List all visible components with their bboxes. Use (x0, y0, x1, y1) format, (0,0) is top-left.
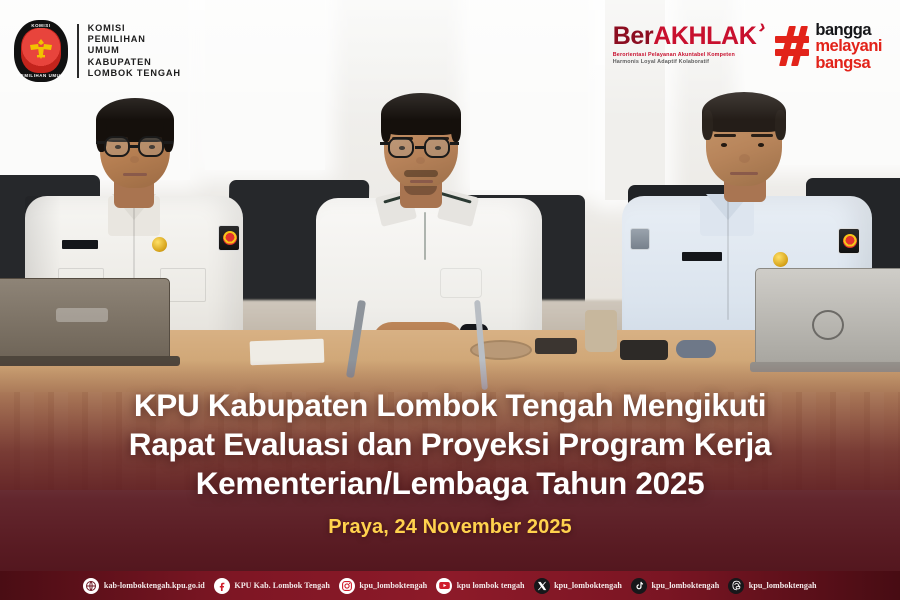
kpu-arm-patch (838, 228, 860, 254)
berakhlak-main: AKHLAK (653, 22, 756, 50)
window-pane (470, 0, 600, 190)
button-placket (727, 200, 729, 320)
youtube-icon (436, 578, 452, 594)
event-location-date: Praya, 24 November 2025 (0, 516, 900, 539)
poster-canvas: KOMISI PEMILIHAN UMUM KOMISI PEMILIHAN U… (0, 0, 900, 600)
bangga-line: bangga (815, 22, 882, 38)
eyebrow (751, 134, 773, 137)
garuda-glyph (28, 37, 54, 61)
institution-line: KOMISI (88, 23, 181, 34)
mouth (410, 180, 433, 183)
social-item-instagram[interactable]: kpu_lomboktengah (339, 578, 427, 594)
berakhlak-prefix: Ber (613, 22, 654, 50)
social-label: kpu_lomboktengah (651, 581, 719, 590)
social-label: KPU Kab. Lombok Tengah (234, 581, 330, 590)
hair-side (451, 112, 461, 142)
kpu-garuda-seal-icon: KOMISI PEMILIHAN UMUM (14, 20, 68, 82)
eye (721, 143, 727, 147)
hp-logo (812, 310, 844, 340)
gold-emblem (152, 237, 167, 252)
header-divider (77, 24, 79, 78)
tagline-line: Harmonis Loyal Adaptif Kolaboratif (613, 59, 757, 66)
hair-side (163, 118, 174, 152)
chest-pocket (440, 268, 482, 298)
institution-line: KABUPATEN (88, 57, 181, 68)
social-item-website[interactable]: kab-lomboktengah.kpu.go.id (83, 578, 204, 594)
berakhlak-wordmark: BerAKHLAK (613, 24, 757, 49)
smartphone (620, 340, 668, 360)
social-label: kpu_lomboktengah (359, 581, 427, 590)
name-tag (62, 240, 98, 249)
eye (758, 143, 764, 147)
hair-side (775, 110, 786, 140)
dell-laptop-base (0, 356, 180, 366)
instagram-icon (339, 578, 355, 594)
nose (416, 157, 425, 164)
smartphone (535, 338, 577, 354)
tagline-line: Berorientasi Pelayanan Akuntabel Kompete… (613, 52, 757, 59)
social-label: kpu_lomboktengah (554, 581, 622, 590)
kpu-branding: KOMISI PEMILIHAN UMUM KOMISI PEMILIHAN U… (14, 20, 181, 82)
partner-logos: BerAKHLAK › Berorientasi Pelayanan Akunt… (613, 22, 882, 71)
moustache (404, 170, 438, 177)
kpu-arm-patch (218, 225, 240, 251)
seal-top-text: KOMISI (14, 23, 68, 28)
poster-title-block: KPU Kabupaten Lombok Tengah Mengikuti Ra… (0, 386, 900, 539)
title-line-2: Rapat Evaluasi dan Proyeksi Program Kerj… (0, 425, 900, 464)
bangga-line: bangsa (815, 55, 882, 71)
gold-emblem (773, 252, 788, 267)
title-line-3: Kementerian/Lembaga Tahun 2025 (0, 464, 900, 503)
social-media-footer: kab-lomboktengah.kpu.go.id KPU Kab. Lomb… (0, 571, 900, 600)
hair (381, 93, 461, 135)
shoulder-patch (630, 228, 650, 250)
name-tag (682, 252, 722, 261)
drinking-cup (585, 310, 617, 352)
tiktok-icon (631, 578, 647, 594)
window-pane (205, 0, 325, 170)
berakhlak-logo: BerAKHLAK › Berorientasi Pelayanan Akunt… (613, 22, 757, 67)
social-label: kpu lombok tengah (457, 581, 525, 590)
social-item-facebook[interactable]: KPU Kab. Lombok Tengah (214, 578, 330, 594)
hp-laptop-base (750, 362, 900, 372)
social-label: kpu_lomboktengah (749, 581, 817, 590)
laptop-brand-logo (56, 308, 108, 322)
institution-line: PEMILIHAN (88, 34, 181, 45)
hair-side (702, 110, 713, 140)
institution-line: LOMBOK TENGAH (88, 68, 181, 79)
bangga-melayani-bangsa-logo: bangga melayani bangsa (776, 22, 882, 71)
institution-name: KOMISI PEMILIHAN UMUM KABUPATEN LOMBOK T… (88, 23, 181, 80)
seal-bottom-text: PEMILIHAN UMUM (14, 73, 68, 78)
mouth (123, 173, 147, 176)
bangga-wordmark: bangga melayani bangsa (815, 22, 882, 71)
bangga-line: melayani (815, 38, 882, 54)
hair-side (381, 112, 391, 142)
social-item-youtube[interactable]: kpu lombok tengah (436, 578, 524, 594)
goatee (404, 186, 437, 195)
paper-documents (250, 339, 325, 366)
computer-mouse (676, 340, 716, 358)
institution-line: UMUM (88, 45, 181, 56)
social-item-x-twitter[interactable]: kpu_lomboktengah (534, 578, 622, 594)
facebook-icon (214, 578, 230, 594)
social-item-tiktok[interactable]: kpu_lomboktengah (631, 578, 719, 594)
title-line-1: KPU Kabupaten Lombok Tengah Mengikuti (0, 386, 900, 425)
hair (702, 92, 786, 132)
bangga-melayani-bangsa-mark (776, 26, 809, 66)
nose (130, 156, 139, 163)
x-twitter-icon (534, 578, 550, 594)
eyebrow (714, 134, 736, 137)
mouth (730, 172, 758, 175)
globe-icon (83, 578, 99, 594)
social-item-threads[interactable]: kpu_lomboktengah (728, 578, 816, 594)
social-label: kab-lomboktengah.kpu.go.id (104, 581, 205, 590)
nose (739, 154, 750, 163)
berakhlak-tagline: Berorientasi Pelayanan Akuntabel Kompete… (613, 52, 757, 67)
threads-icon (728, 578, 744, 594)
polo-placket (424, 212, 426, 260)
